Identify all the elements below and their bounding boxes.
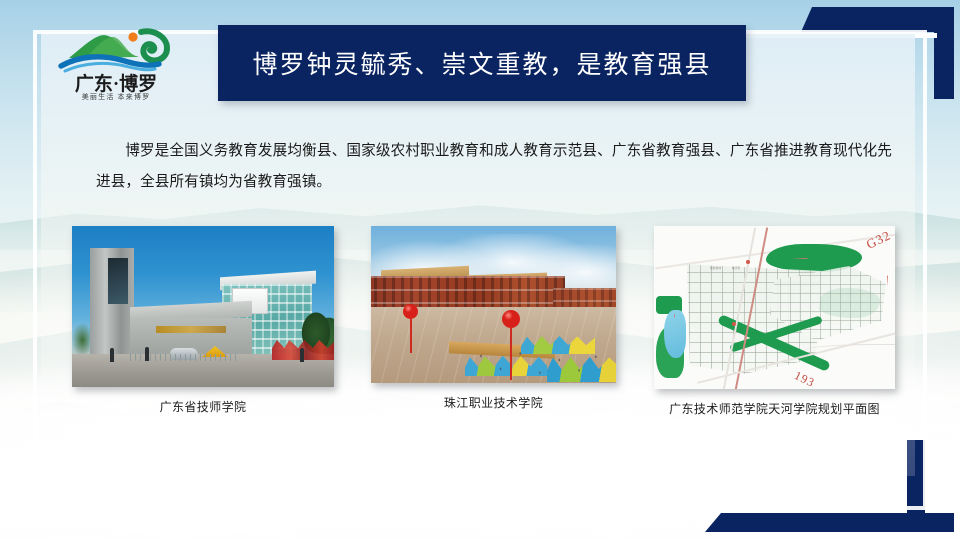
boluo-logo: 广东·博罗 美丽生活 本来博罗 bbox=[55, 24, 177, 100]
logo-artwork: 广东·博罗 美丽生活 本来博罗 bbox=[55, 24, 177, 100]
title-banner: 博罗钟灵毓秀、崇文重教，是教育强县 bbox=[218, 25, 746, 101]
photo1-person bbox=[145, 347, 149, 361]
photo2-crowd bbox=[467, 344, 607, 383]
photo-cell-3: 规划用地 教学区 G32 193 广东技术师范学院天河学院规划平面图 bbox=[654, 226, 916, 417]
logo-cloud-swirl bbox=[141, 31, 167, 60]
photo-cell-2: 珠江职业技术学院 bbox=[371, 226, 633, 411]
logo-sun-icon bbox=[128, 32, 137, 41]
body-paragraph: 博罗是全国义务教育发展均衡县、国家级农村职业教育和成人教育示范县、广东省教育强县… bbox=[96, 136, 892, 198]
photo1-person bbox=[300, 348, 304, 362]
photo3-marker bbox=[746, 260, 750, 264]
photo2-red-balloon-large bbox=[502, 310, 520, 328]
photo3-road-curve bbox=[804, 344, 895, 355]
page-title: 博罗钟灵毓秀、崇文重教，是教育强县 bbox=[252, 45, 711, 81]
photo1-gate-sign bbox=[156, 326, 226, 333]
guangdong-technician-college-gate-photo[interactable] bbox=[72, 226, 334, 387]
photo-caption-3: 广东技术师范学院天河学院规划平面图 bbox=[654, 400, 895, 417]
photo-cell-1: 广东省技师学院 bbox=[72, 226, 334, 415]
photo2-balloon-string bbox=[410, 319, 412, 353]
photo-caption-2: 珠江职业技术学院 bbox=[371, 394, 616, 411]
tianhe-college-master-plan-map[interactable]: 规划用地 教学区 G32 193 bbox=[654, 226, 895, 389]
slide-canvas: 广东·博罗 美丽生活 本来博罗 博罗钟灵毓秀、崇文重教，是教育强县 博罗是全国义… bbox=[0, 0, 960, 540]
photo3-block-label: 规划用地 bbox=[710, 266, 721, 270]
top-right-navy-vertical bbox=[934, 7, 954, 99]
photo-caption-1: 广东省技师学院 bbox=[72, 398, 334, 415]
logo-name-text: 广东·博罗 bbox=[75, 72, 157, 95]
photo3-block-label: 教学区 bbox=[732, 266, 740, 270]
top-right-navy-bar bbox=[801, 7, 954, 32]
photo2-red-balloon-small bbox=[403, 304, 418, 319]
photo3-marker bbox=[732, 322, 736, 326]
photo1-tower-window bbox=[108, 258, 128, 304]
zhujiang-vocational-college-plaza-photo[interactable] bbox=[371, 226, 616, 383]
logo-tagline-text: 美丽生活 本来博罗 bbox=[82, 92, 151, 100]
photo-row: 广东省技师学院 bbox=[70, 226, 900, 431]
photo1-person bbox=[110, 348, 114, 362]
photo2-balloon-string bbox=[510, 328, 512, 380]
